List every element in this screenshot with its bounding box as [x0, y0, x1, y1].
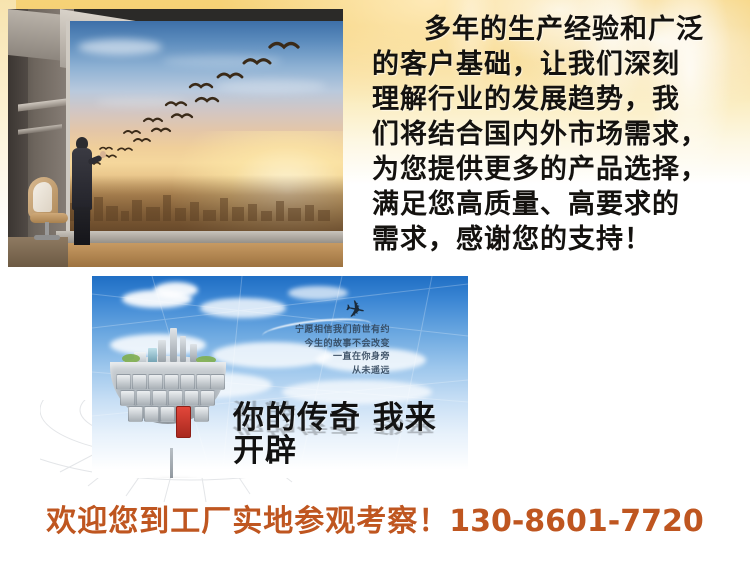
block-row — [110, 390, 226, 405]
intro-line: 需求，感谢您的支持！ — [372, 222, 738, 257]
chair-stem — [45, 222, 49, 236]
tower — [158, 340, 166, 362]
businessman-suit — [72, 148, 92, 210]
intro-line: 理解行业的发展趋势，我 — [372, 82, 738, 117]
intro-line: 的客户基础，让我们深刻 — [372, 47, 738, 82]
poem-line: 从未遥远 — [270, 365, 390, 379]
block-row — [110, 374, 226, 389]
businessman-legs — [74, 207, 90, 245]
footer-contact-line: 欢迎您到工厂实地参观考察！130-8601-7720 — [0, 503, 750, 541]
banner-poem: 宁愿相信我们前世有约 今生的故事不会改变 一直在你身旁 从未遥远 — [270, 324, 390, 378]
chair-seat — [30, 213, 68, 223]
poem-line: 今生的故事不会改变 — [270, 338, 390, 352]
tower — [148, 348, 157, 363]
banner-slogan-reflection: 你的传奇 我来开辟 — [233, 399, 468, 435]
tower — [180, 336, 186, 362]
footer-invitation-text: 欢迎您到工厂实地参观考察！ — [46, 504, 449, 539]
tower — [170, 328, 177, 362]
block-row — [110, 406, 226, 421]
cloud — [200, 298, 286, 318]
globe-city — [108, 328, 228, 448]
cloud — [154, 282, 198, 298]
intro-text-block: 多年的生产经验和广泛 的客户基础，让我们深刻 理解行业的发展趋势，我 们将结合国… — [372, 12, 738, 257]
poem-line: 一直在你身旁 — [270, 351, 390, 365]
intro-line: 们将结合国内外市场需求， — [372, 117, 738, 152]
businessman-figure — [70, 137, 94, 243]
intro-line: 为您提供更多的产品选择， — [372, 152, 738, 187]
poem-line: 宁愿相信我们前世有约 — [270, 324, 390, 338]
intro-line: 多年的生产经验和广泛 — [372, 12, 738, 47]
footer-phone-number[interactable]: 130-8601-7720 — [449, 504, 704, 539]
bird-flock — [66, 21, 343, 233]
promo-banner-page: 多年的生产经验和广泛 的客户基础，让我们深刻 理解行业的发展趋势，我 们将结合国… — [0, 0, 750, 564]
chair-cushion — [33, 182, 52, 212]
globe-city-sky-banner: ✈ 宁愿相信我们前世有约 今生的故事不会改变 一直在你身旁 从未遥远 — [92, 276, 468, 478]
chair-base — [34, 235, 60, 240]
cloud — [288, 286, 348, 300]
intro-line: 满足您高质量、高要求的 — [372, 187, 738, 222]
globe-stem — [170, 448, 173, 478]
businessman-window-birds-photo — [8, 9, 343, 267]
panoramic-window — [66, 21, 343, 233]
businessman-hand — [100, 151, 106, 158]
lounge-chair — [28, 177, 70, 243]
